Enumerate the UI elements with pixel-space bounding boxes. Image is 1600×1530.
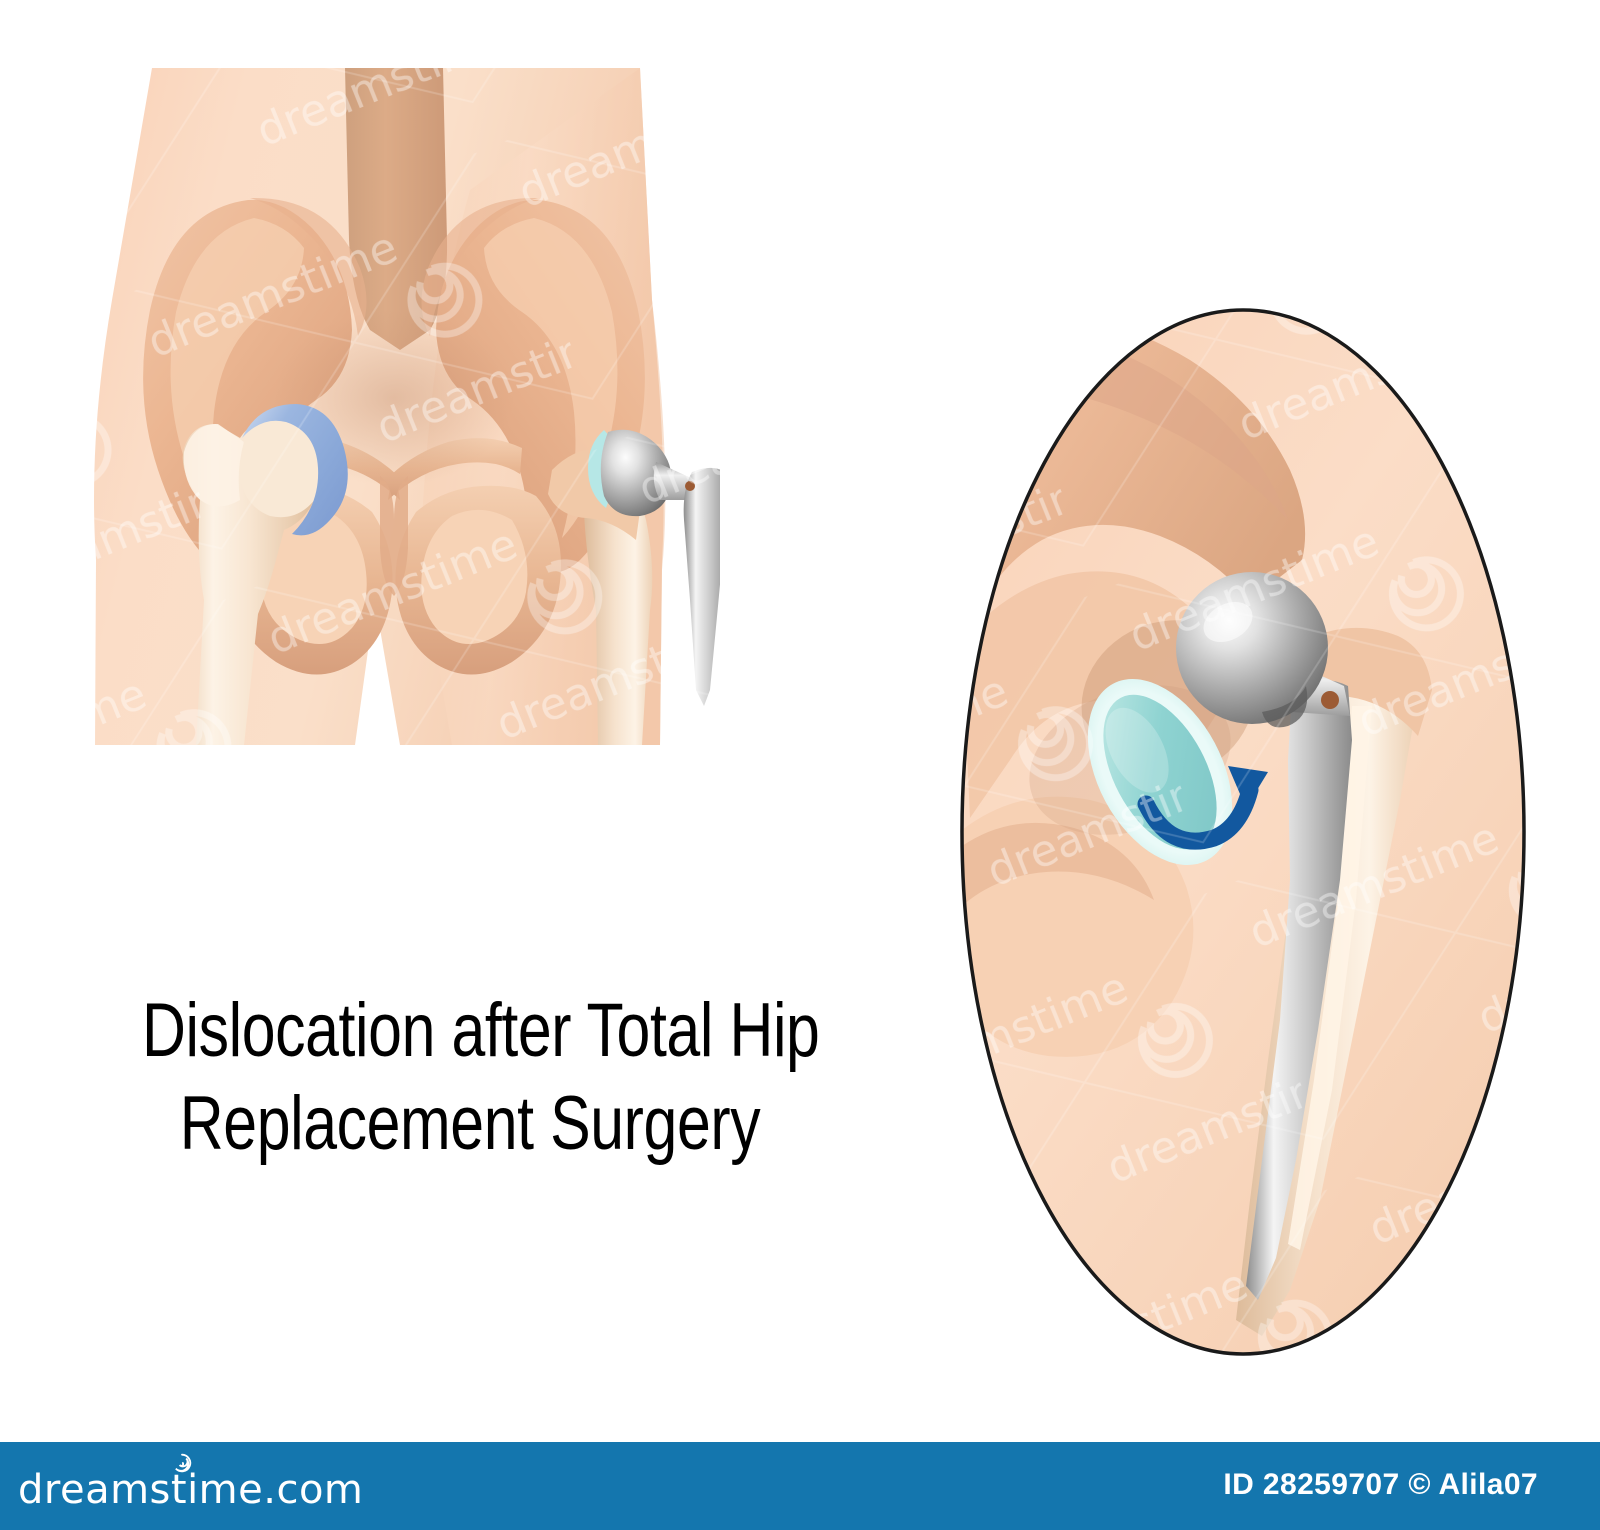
image-id-credit: ID 28259707 © Alila07 [1223,1468,1538,1502]
page-title: Dislocation after Total Hip Replacement … [142,985,798,1170]
spiral-icon [172,1453,192,1473]
medical-illustration: dreamstime dreamstime [0,0,1600,1530]
page-title-line-2: Replacement Surgery [142,1078,798,1171]
footer-bar: dreamstime.com ID 28259707 © Alila07 [0,1442,1600,1530]
dreamstime-logo[interactable]: dreamstime.com [18,1462,363,1510]
pelvis-overview-panel [40,60,730,760]
page-title-line-1: Dislocation after Total Hip [142,985,798,1078]
watermark-left [40,60,720,760]
dreamstime-logo-text: dreamstime.com [18,1470,363,1510]
illustration-page: dreamstime dreamstime [0,0,1600,1530]
dislocation-detail-oval [960,308,1530,1358]
